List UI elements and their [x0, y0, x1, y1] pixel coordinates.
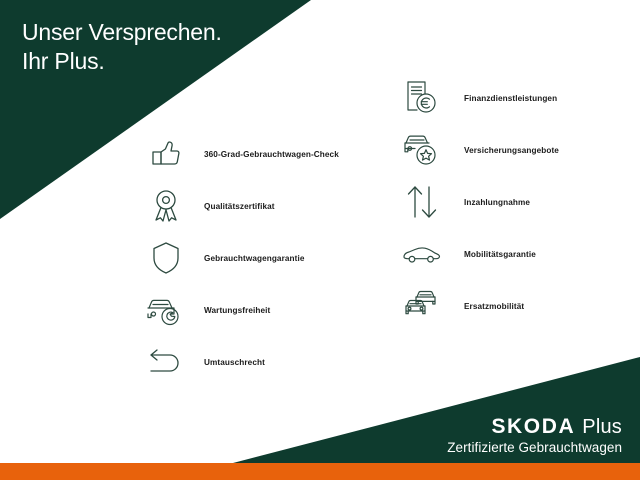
feature-item-return-right: Umtauschrecht: [142, 336, 339, 388]
headline-line-1: Unser Versprechen.: [22, 18, 222, 47]
feature-item-insurance-offers: Versicherungsangebote: [398, 124, 559, 176]
feature-item-replacement-mobility: Ersatzmobilität: [398, 280, 559, 332]
shield-icon: [142, 236, 190, 280]
up-down-arrows-icon: [398, 180, 446, 224]
feature-item-warranty: Gebrauchtwagengarantie: [142, 232, 339, 284]
feature-label: Gebrauchtwagengarantie: [204, 254, 304, 263]
feature-label: 360-Grad-Gebrauchtwagen-Check: [204, 150, 339, 159]
document-euro-icon: [398, 76, 446, 120]
quality-rosette-icon: [142, 184, 190, 228]
feature-list-left: 360-Grad-Gebrauchtwagen-Check Qualitätsz…: [142, 128, 339, 388]
sports-car-icon: [398, 232, 446, 276]
feature-label: Umtauschrecht: [204, 358, 265, 367]
promo-slide: Unser Versprechen. Ihr Plus. 360-Grad-Ge…: [0, 0, 640, 480]
feature-label: Mobilitätsgarantie: [464, 250, 536, 259]
feature-label: Finanzdienstleistungen: [464, 94, 557, 103]
brand-suffix: Plus: [582, 416, 622, 438]
feature-label: Versicherungsangebote: [464, 146, 559, 155]
page-title: Unser Versprechen. Ihr Plus.: [22, 18, 222, 76]
skoda-plus-logo: SKODA Plus Zertifizierte Gebrauchtwagen: [447, 416, 622, 456]
feature-label: Inzahlungnahme: [464, 198, 530, 207]
return-arrow-icon: [142, 340, 190, 384]
feature-item-trade-in: Inzahlungnahme: [398, 176, 559, 228]
logo-subtitle: Zertifizierte Gebrauchtwagen: [447, 439, 622, 456]
feature-label: Wartungsfreiheit: [204, 306, 270, 315]
feature-list-right: Finanzdienstleistungen Versicherungsange…: [398, 72, 559, 332]
logo-primary-row: SKODA Plus: [447, 416, 622, 438]
brand-wordmark: SKODA: [491, 416, 575, 438]
feature-item-mobility-guarantee: Mobilitätsgarantie: [398, 228, 559, 280]
orange-footer-bar: [0, 463, 640, 480]
feature-label: Ersatzmobilität: [464, 302, 524, 311]
feature-item-maintenance-free: Wartungsfreiheit: [142, 284, 339, 336]
car-wrench-icon: [142, 288, 190, 332]
thumbs-up-icon: [142, 132, 190, 176]
feature-item-financial-services: Finanzdienstleistungen: [398, 72, 559, 124]
feature-item-360-check: 360-Grad-Gebrauchtwagen-Check: [142, 128, 339, 180]
two-cars-icon: [398, 284, 446, 328]
headline-line-2: Ihr Plus.: [22, 47, 222, 76]
feature-label: Qualitätszertifikat: [204, 202, 275, 211]
feature-item-quality-certificate: Qualitätszertifikat: [142, 180, 339, 232]
car-star-icon: [398, 128, 446, 172]
